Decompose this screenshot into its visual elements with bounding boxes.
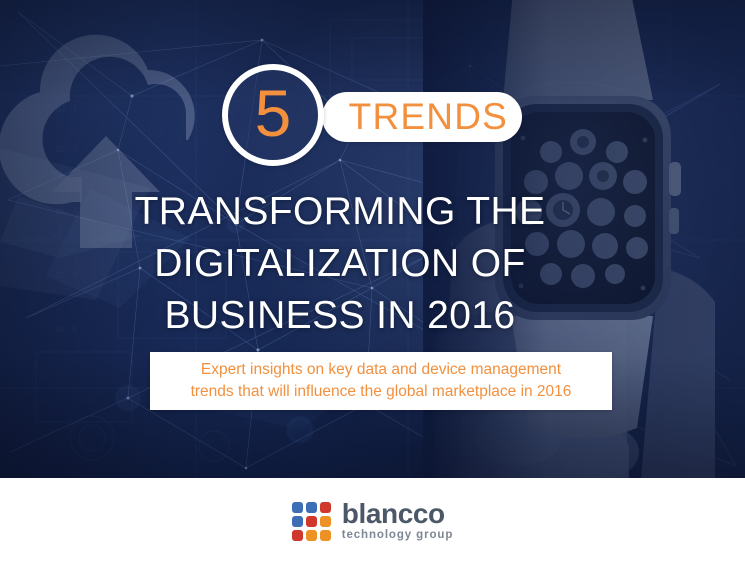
hero-section: D1 WI 1 DL 3 WI 2 DL 4 WI 3 DL 5 DL 6 DL… bbox=[0, 0, 745, 478]
trends-label: TRENDS bbox=[322, 92, 508, 142]
logo-name: blancco bbox=[342, 500, 454, 527]
subtitle-box: Expert insights on key data and device m… bbox=[150, 352, 612, 410]
logo-dot bbox=[320, 516, 331, 527]
page-title: TRANSFORMING THE DIGITALIZATION OF BUSIN… bbox=[60, 186, 620, 342]
logo-dot bbox=[292, 530, 303, 541]
footer: blancco technology group bbox=[0, 478, 745, 564]
logo-dot bbox=[306, 516, 317, 527]
logo-dot bbox=[292, 516, 303, 527]
blancco-dot-grid-logo bbox=[292, 502, 331, 541]
trends-badge: TRENDS 5 bbox=[222, 64, 522, 166]
logo-dot bbox=[292, 502, 303, 513]
ebook-cover-page: D1 WI 1 DL 3 WI 2 DL 4 WI 3 DL 5 DL 6 DL… bbox=[0, 0, 745, 564]
logo-dot bbox=[320, 530, 331, 541]
logo-tagline: technology group bbox=[342, 528, 454, 542]
blancco-logo: blancco technology group bbox=[292, 500, 454, 542]
blancco-wordmark: blancco technology group bbox=[342, 500, 454, 542]
logo-dot bbox=[320, 502, 331, 513]
page-title-line-1: TRANSFORMING THE bbox=[60, 186, 620, 238]
subtitle-line-1: Expert insights on key data and device m… bbox=[201, 359, 561, 381]
logo-dot bbox=[306, 530, 317, 541]
trends-pill: TRENDS bbox=[322, 92, 522, 142]
subtitle-line-2: trends that will influence the global ma… bbox=[191, 381, 572, 403]
page-title-line-3: BUSINESS IN 2016 bbox=[60, 290, 620, 342]
logo-dot bbox=[306, 502, 317, 513]
trends-number: 5 bbox=[222, 64, 324, 166]
page-title-line-2: DIGITALIZATION OF bbox=[60, 238, 620, 290]
